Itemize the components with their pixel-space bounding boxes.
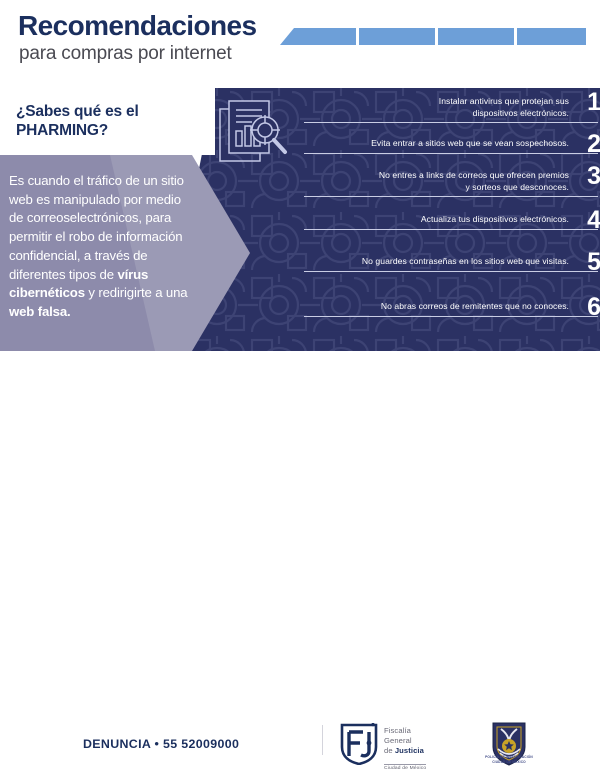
recommendation-rule-1 [304,122,598,123]
definition-part-2: y redirigirte a una [85,285,188,300]
definition-bold-2: web falsa. [9,304,71,319]
recommendation-rule-4 [304,229,598,230]
fgj-line-1: Fiscalía [384,726,458,736]
recommendation-text-4: Actualiza tus dispositivos electrónicos. [314,214,569,226]
definition-text: Es cuando el tráfico de un sitio web es … [9,172,189,322]
page-subtitle: para compras por internet [19,44,232,63]
definition-part-1: Es cuando el tráfico de un sitio web es … [9,173,184,282]
fgj-wordmark: Fiscalía General de Justicia Ciudad de M… [384,726,458,774]
accent-bar-4 [517,28,586,45]
footer: DENUNCIA • 55 52009000 Fiscalía General … [0,351,600,464]
accent-bar-2 [359,28,435,45]
recommendation-list: Instalar antivirus que protejan sus disp… [295,96,600,346]
fgj-line-3-bold: Justicia [395,746,424,755]
recommendation-text-2: Evita entrar a sitios web que se vean so… [314,138,569,150]
recommendation-text-6: No abras correos de remitentes que no co… [314,301,569,313]
fgj-city-label: Ciudad de México [384,764,426,771]
recommendation-rule-6 [304,316,598,317]
header-accent-bars [280,28,586,45]
fgj-shield-icon [339,723,379,765]
denuncia-phone[interactable]: DENUNCIA • 55 52009000 [83,737,239,751]
fgj-line-3: de Justicia [384,746,458,756]
recommendation-text-5: No guardes contraseñas en los sitios web… [314,256,569,268]
page-title: Recomendaciones [18,12,256,40]
accent-bar-1 [280,28,356,45]
document-magnifier-icon [218,97,292,169]
question-line-1: ¿Sabes qué es el [16,102,139,121]
header: Recomendaciones para compras por interne… [0,0,600,88]
fgj-line-3-normal: de [384,746,395,755]
recommendation-rule-2 [304,153,598,154]
fgj-logo: Fiscalía General de Justicia Ciudad de M… [339,723,457,765]
footer-divider [322,725,323,755]
question-block: ¿Sabes qué es el PHARMING? [0,88,215,155]
recommendation-text-1: Instalar antivirus que protejan sus disp… [314,96,569,120]
recommendation-rule-3 [304,196,598,197]
accent-bar-3 [438,28,514,45]
seal-caption: POLICÍA DE INVESTIGACIÓN CIUDAD DE MÉXIC… [476,755,542,764]
fgj-line-2: General [384,736,458,746]
recommendation-text-3: No entres a links de correos que ofrecen… [314,170,569,194]
question-line-2: PHARMING? [16,121,108,140]
recommendation-rule-5 [304,271,598,272]
recommendation-number-1: 1 [572,90,600,115]
recommendation-number-3: 3 [572,164,600,189]
